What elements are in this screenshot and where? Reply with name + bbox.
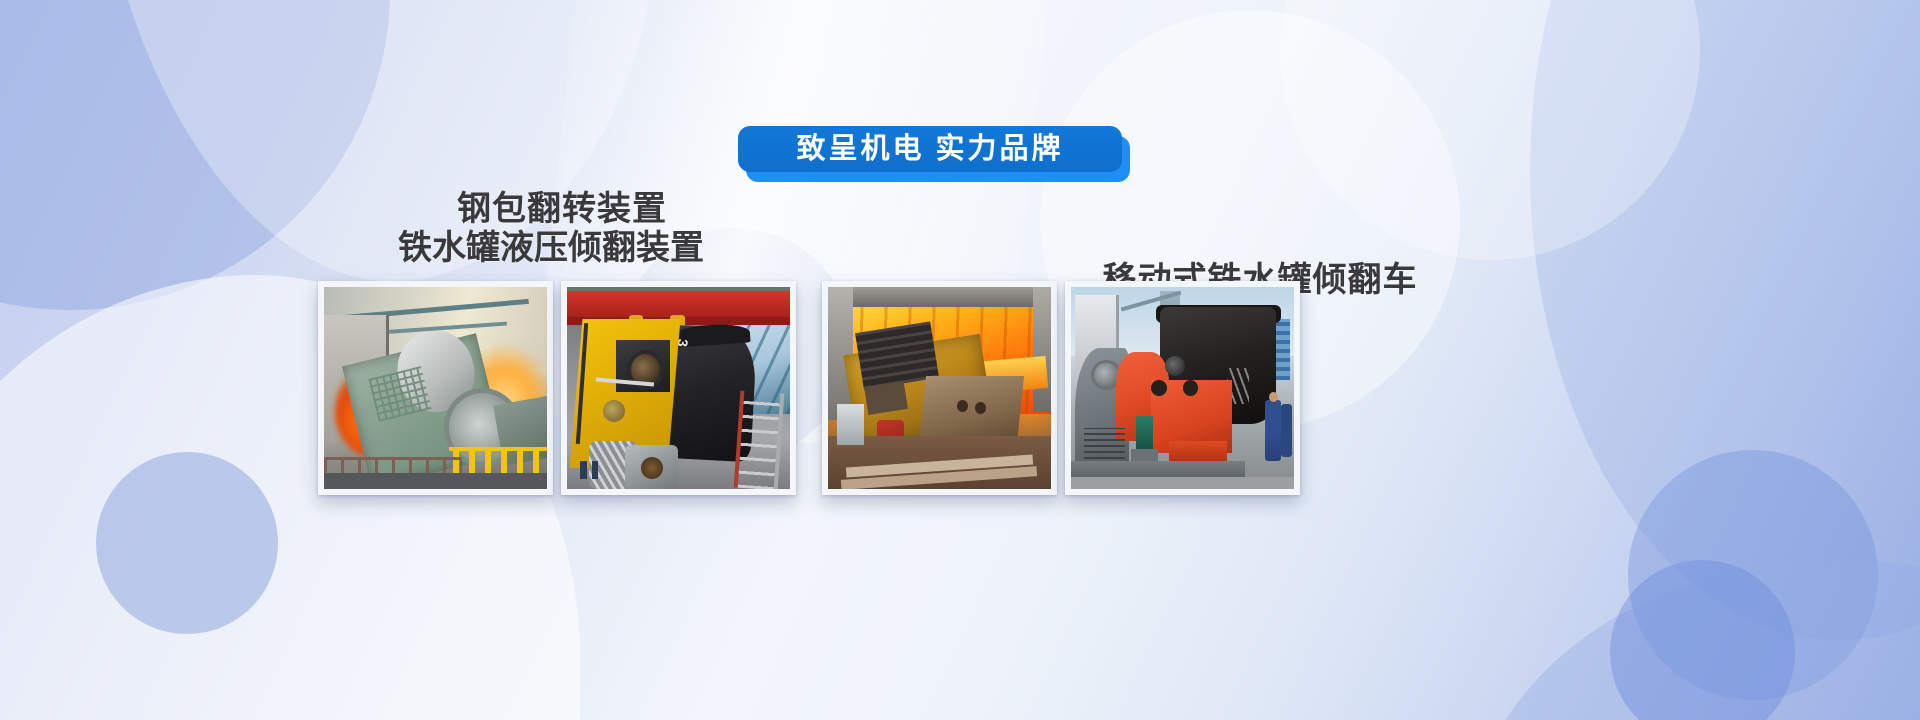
brand-badge-label: 致呈机电 实力品牌: [796, 135, 1063, 164]
background-circle-10: [1610, 560, 1795, 720]
photo-ladle-tilter-yellow: 3: [567, 287, 790, 489]
photo-tilting-car-orange: [1071, 287, 1294, 489]
product-photo-gallery: 3: [318, 281, 1300, 495]
brand-badge-pill: 致呈机电 实力品牌: [738, 126, 1122, 172]
product-photo-2[interactable]: 3: [561, 281, 796, 495]
background-circle-9: [1470, 560, 1920, 720]
product-photo-1[interactable]: [318, 281, 553, 495]
background-circle-4: [96, 452, 278, 634]
heading-left: 钢包翻转装置 铁水罐液压倾翻装置: [386, 190, 738, 269]
product-photo-3[interactable]: [822, 281, 1057, 495]
background-circle-7: [1530, 0, 1920, 640]
heading-left-line1: 钢包翻转装置: [386, 190, 738, 229]
brand-badge: 致呈机电 实力品牌: [738, 126, 1130, 184]
photo-tilting-car-hot: [828, 287, 1051, 489]
heading-left-line2: 铁水罐液压倾翻装置: [364, 229, 738, 268]
background-circle-1: [0, 0, 390, 310]
product-photo-4[interactable]: [1065, 281, 1300, 495]
photo-ladle-tilter-green: [324, 287, 547, 489]
banner-stage: 致呈机电 实力品牌 钢包翻转装置 铁水罐液压倾翻装置 移动式铁水罐倾翻车: [0, 0, 1920, 720]
background-circle-8: [1628, 450, 1878, 700]
background-circle-11: [1280, 0, 1700, 260]
